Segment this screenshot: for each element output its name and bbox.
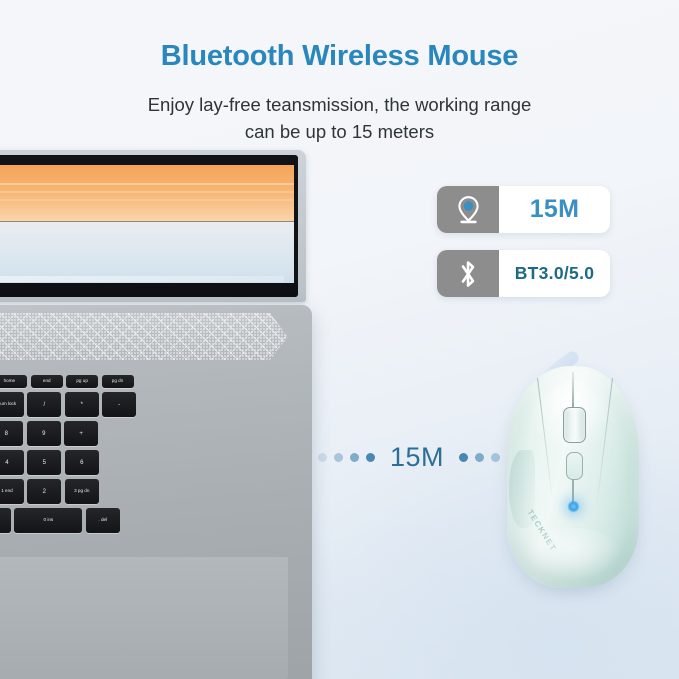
wireless-mouse: TECKNET: [497, 360, 647, 595]
signal-dot: [318, 453, 327, 462]
screen-taskbar: [0, 276, 284, 282]
spec-badge-list: 15M BT3.0/5.0: [437, 186, 617, 314]
wallpaper-sea: [0, 222, 294, 283]
key-home[interactable]: home: [0, 375, 27, 388]
subtitle-line-1: Enjoy lay-free teansmission, the working…: [60, 92, 619, 119]
screen-bottom-bezel: [0, 283, 298, 297]
key--[interactable]: -: [102, 392, 136, 417]
center-seam-top: [572, 372, 573, 408]
laptop-screen-bezel: hp: [0, 155, 298, 297]
key-4[interactable]: 4: [0, 450, 24, 475]
key-pg-up[interactable]: pg up: [66, 375, 98, 388]
location-pin-icon: [437, 186, 499, 233]
signal-dot: [350, 453, 359, 462]
key-3-pg-dn[interactable]: 3 pg dn: [65, 479, 99, 504]
key-end[interactable]: end: [31, 375, 63, 388]
led-indicator: [567, 500, 580, 513]
range-indicator-label: 15M: [390, 442, 444, 473]
key-num-lock[interactable]: num lock: [0, 392, 24, 417]
right-button-seam: [596, 378, 613, 503]
bluetooth-badge-value: BT3.0/5.0: [499, 250, 610, 297]
dpi-button: [566, 452, 583, 480]
scroll-wheel: [563, 407, 586, 443]
key-0-ins[interactable]: 0 ins: [14, 508, 82, 533]
key-6[interactable]: 6: [65, 450, 99, 475]
keyboard-row-number-row: 90-=← backspacenum lock/*-: [0, 392, 136, 417]
key--[interactable]: /: [27, 392, 61, 417]
key--[interactable]: ›: [0, 508, 11, 533]
keyboard-row-function-row: f8f9f10f11prt scdeletehomeendpg uppg dn: [0, 375, 134, 388]
laptop-lid: hp: [0, 150, 306, 302]
subtitle-line-2: can be up to 15 meters: [60, 119, 619, 146]
laptop-wallpaper: [0, 165, 294, 283]
keyboard-row-bottom-row: alt gr\‹⌃ ⌄›0 ins. del: [0, 508, 120, 533]
left-button-seam: [537, 378, 553, 495]
signal-dot: [459, 453, 468, 462]
range-badge-value: 15M: [499, 186, 610, 233]
laptop-illustration: hp f8f9f10f11prt scdeletehomeendpg uppg …: [0, 150, 310, 679]
key-5[interactable]: 5: [27, 450, 61, 475]
bluetooth-icon: [437, 250, 499, 297]
key-8[interactable]: 8: [0, 421, 23, 446]
range-badge: 15M: [437, 186, 610, 233]
key-pg-dn[interactable]: pg dn: [102, 375, 134, 388]
laptop-keyboard[interactable]: f8f9f10f11prt scdeletehomeendpg uppg dn9…: [0, 375, 290, 550]
key--[interactable]: *: [65, 392, 99, 417]
mouse-body: TECKNET: [507, 366, 639, 588]
key--del[interactable]: . del: [86, 508, 120, 533]
signal-dot: [366, 453, 375, 462]
signal-dot: [475, 453, 484, 462]
keyboard-row-qwerty-row: OP[]#789+: [0, 421, 98, 446]
page-subtitle: Enjoy lay-free teansmission, the working…: [60, 92, 619, 146]
signal-dot: [334, 453, 343, 462]
key-1-end[interactable]: 1 end: [0, 479, 24, 504]
product-marketing-image: hp f8f9f10f11prt scdeletehomeendpg uppg …: [0, 0, 679, 679]
mouse-highlight: [525, 528, 621, 580]
key-2[interactable]: 2: [27, 479, 61, 504]
laptop-base: f8f9f10f11prt scdeletehomeendpg uppg dn9…: [0, 305, 312, 679]
page-title: Bluetooth Wireless Mouse: [0, 40, 679, 73]
key-9[interactable]: 9: [27, 421, 61, 446]
speaker-grille: [0, 313, 288, 360]
bluetooth-version-badge: BT3.0/5.0: [437, 250, 610, 297]
palm-rest: [0, 557, 288, 679]
keyboard-row-home-row: KL;'←456: [0, 450, 99, 475]
key--[interactable]: +: [64, 421, 98, 446]
keyboard-row-shift-row: ,./pause↑1 end23 pg dn: [0, 479, 99, 504]
